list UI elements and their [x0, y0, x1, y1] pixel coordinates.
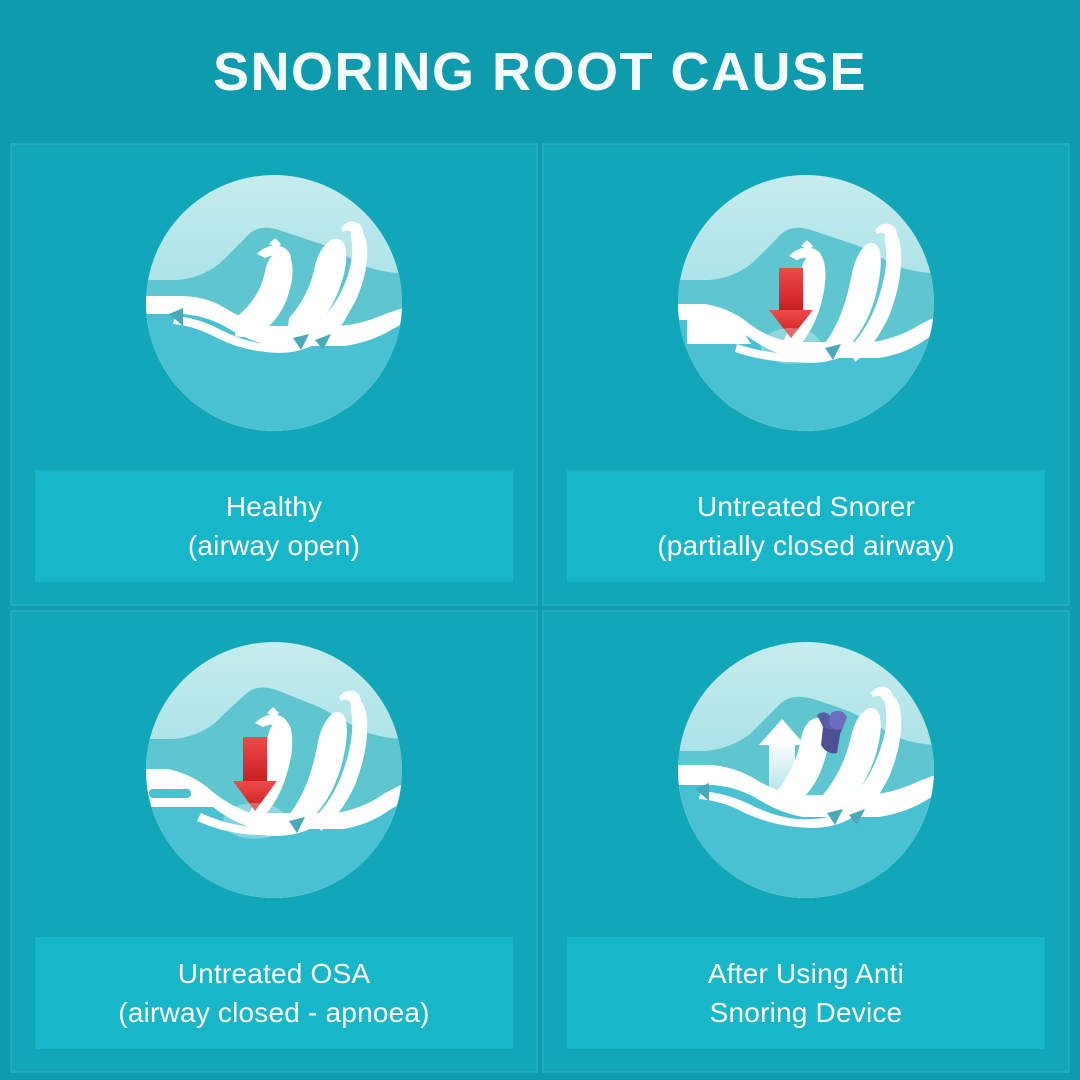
- card-after-device[interactable]: After Using Anti Snoring Device: [542, 610, 1070, 1073]
- label-line-1: Untreated Snorer: [697, 487, 915, 526]
- card-untreated-snorer[interactable]: Untreated Snorer (partially closed airwa…: [542, 143, 1070, 606]
- label-line-2: (partially closed airway): [657, 526, 955, 565]
- closed-airway-head-cross-section-icon: [139, 635, 409, 905]
- label-line-2: (airway open): [188, 526, 360, 565]
- open-airway-head-cross-section-icon: [139, 168, 409, 438]
- label-line-1: Healthy: [226, 487, 322, 526]
- page-title: SNORING ROOT CAUSE: [0, 42, 1080, 102]
- label-line-2: (airway closed - apnoea): [118, 993, 429, 1032]
- label-line-1: Untreated OSA: [178, 954, 370, 993]
- card-untreated-osa[interactable]: Untreated OSA (airway closed - apnoea): [10, 610, 538, 1073]
- infographic-page: SNORING ROOT CAUSE: [0, 0, 1080, 1080]
- label-line-1: After Using Anti: [708, 954, 904, 993]
- card-grid: Healthy (airway open): [10, 143, 1070, 1073]
- label-untreated-snorer: Untreated Snorer (partially closed airwa…: [567, 470, 1045, 582]
- partially-closed-airway-head-cross-section-icon: [671, 168, 941, 438]
- label-untreated-osa: Untreated OSA (airway closed - apnoea): [35, 937, 513, 1049]
- reopened-airway-head-cross-section-icon: [671, 635, 941, 905]
- label-healthy: Healthy (airway open): [35, 470, 513, 582]
- label-line-2: Snoring Device: [710, 993, 903, 1032]
- card-healthy[interactable]: Healthy (airway open): [10, 143, 538, 606]
- label-after-device: After Using Anti Snoring Device: [567, 937, 1045, 1049]
